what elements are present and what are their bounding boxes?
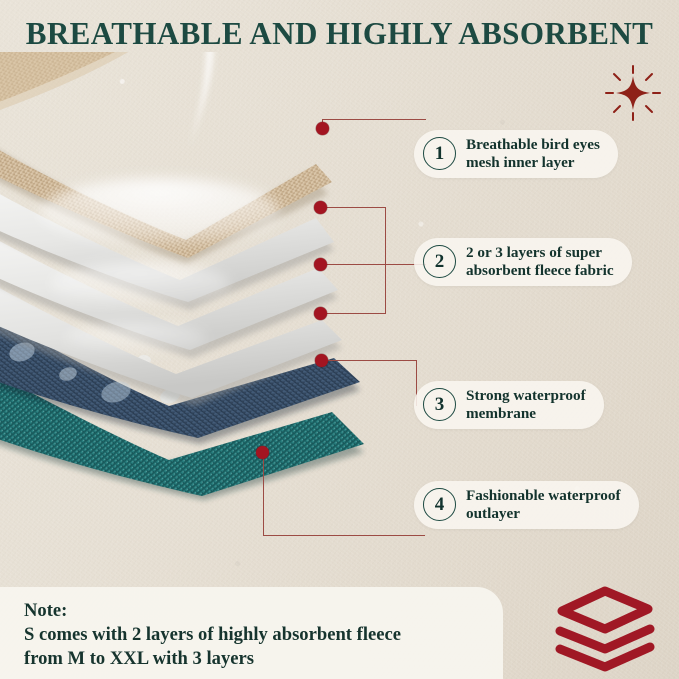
callout-3-line-1: Strong waterproof <box>466 387 586 405</box>
callout-text-4: Fashionable waterproof outlayer <box>466 487 621 523</box>
callout-2-line-2: absorbent fleece fabric <box>466 262 614 280</box>
callout-text-2: 2 or 3 layers of super absorbent fleece … <box>466 244 614 280</box>
note-line-2: from M to XXL with 3 layers <box>24 647 503 671</box>
callout-2[interactable]: 2 2 or 3 layers of super absorbent fleec… <box>414 238 632 286</box>
note-line-1: S comes with 2 layers of highly absorben… <box>24 623 503 647</box>
leader-line-2-top <box>320 207 386 208</box>
callout-4-line-1: Fashionable waterproof <box>466 487 621 505</box>
sparkle-icon <box>604 64 662 122</box>
callout-4-line-2: outlayer <box>466 505 621 523</box>
callout-dot-1 <box>316 122 329 135</box>
callout-1-line-1: Breathable bird eyes <box>466 136 600 154</box>
callout-dot-4 <box>256 446 269 459</box>
stacked-layers-icon <box>552 583 658 675</box>
callout-dot-2b <box>314 258 327 271</box>
callout-number-1: 1 <box>423 137 456 170</box>
callout-text-1: Breathable bird eyes mesh inner layer <box>466 136 600 172</box>
callout-dot-3 <box>315 354 328 367</box>
note-heading: Note: <box>24 599 503 623</box>
callout-number-2: 2 <box>423 245 456 278</box>
callout-3[interactable]: 3 Strong waterproof membrane <box>414 381 604 429</box>
leader-line-2-mid <box>320 264 426 265</box>
leader-line-1-horizontal <box>322 119 426 120</box>
callout-1-line-2: mesh inner layer <box>466 154 600 172</box>
infographic-canvas: BREATHABLE AND HIGHLY ABSORBENT <box>0 0 679 679</box>
callout-number-3: 3 <box>423 388 456 421</box>
callout-4[interactable]: 4 Fashionable waterproof outlayer <box>414 481 639 529</box>
callout-text-3: Strong waterproof membrane <box>466 387 586 423</box>
product-layer-stack <box>0 52 384 512</box>
leader-line-4-horizontal <box>263 535 425 536</box>
leader-line-2-vertical <box>385 207 386 314</box>
callout-3-line-2: membrane <box>466 405 586 423</box>
page-title: BREATHABLE AND HIGHLY ABSORBENT <box>5 16 674 52</box>
leader-line-4-vertical <box>263 453 264 536</box>
callout-2-line-1: 2 or 3 layers of super <box>466 244 614 262</box>
callout-number-4: 4 <box>423 488 456 521</box>
note-panel: Note: S comes with 2 layers of highly ab… <box>0 587 503 679</box>
callout-dot-2a <box>314 201 327 214</box>
callout-dot-2c <box>314 307 327 320</box>
leader-line-3-horizontal <box>321 360 417 361</box>
callout-1[interactable]: 1 Breathable bird eyes mesh inner layer <box>414 130 618 178</box>
leader-line-2-bottom <box>320 313 386 314</box>
